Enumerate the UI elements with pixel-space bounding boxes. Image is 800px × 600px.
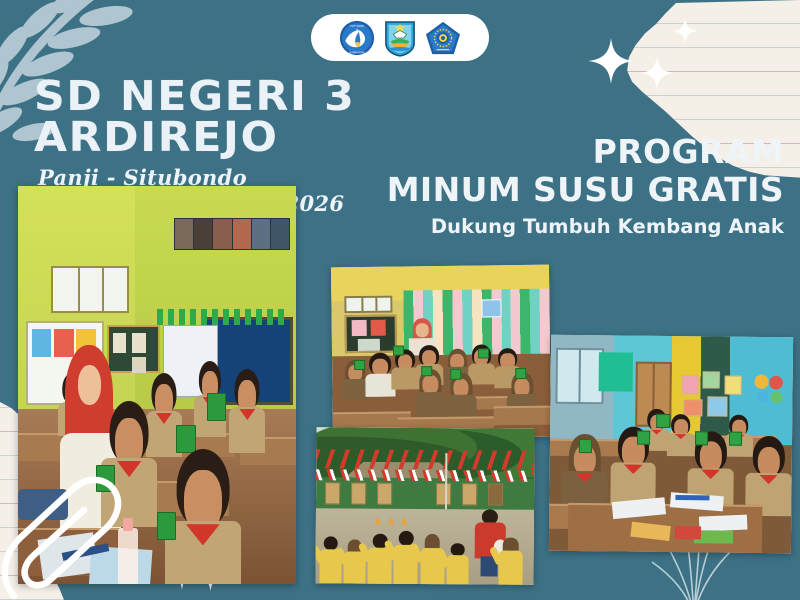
program-block: PROGRAM MINUM SUSU GRATIS Dukung Tumbuh … (354, 133, 784, 238)
sparkle-star-icon (588, 38, 634, 84)
logo-pill: TUT WURI HANDAYANI (311, 14, 489, 61)
program-title-line2: MINUM SUSU GRATIS (354, 171, 784, 209)
kemendikdasmen-logo (425, 21, 461, 55)
paperclip-decoration (0, 470, 126, 600)
photo-students-drinking-milk (549, 335, 793, 554)
sparkle-star-icon (672, 18, 698, 44)
program-title-line1: PROGRAM (354, 133, 784, 171)
sparkle-star-icon (640, 56, 674, 90)
situbondo-regency-emblem (384, 19, 416, 57)
photo-class-raising-milk-cartons (331, 265, 551, 440)
photo-schoolyard-activity (315, 427, 534, 585)
poster-canvas: TUT WURI HANDAYANI SD NEGERI 3 ARDIREJO (0, 0, 800, 600)
svg-text:TUT WURI: TUT WURI (349, 23, 364, 27)
program-tagline: Dukung Tumbuh Kembang Anak (354, 215, 784, 238)
tut-wuri-handayani-logo: TUT WURI HANDAYANI (339, 20, 375, 56)
svg-text:HANDAYANI: HANDAYANI (349, 50, 365, 54)
